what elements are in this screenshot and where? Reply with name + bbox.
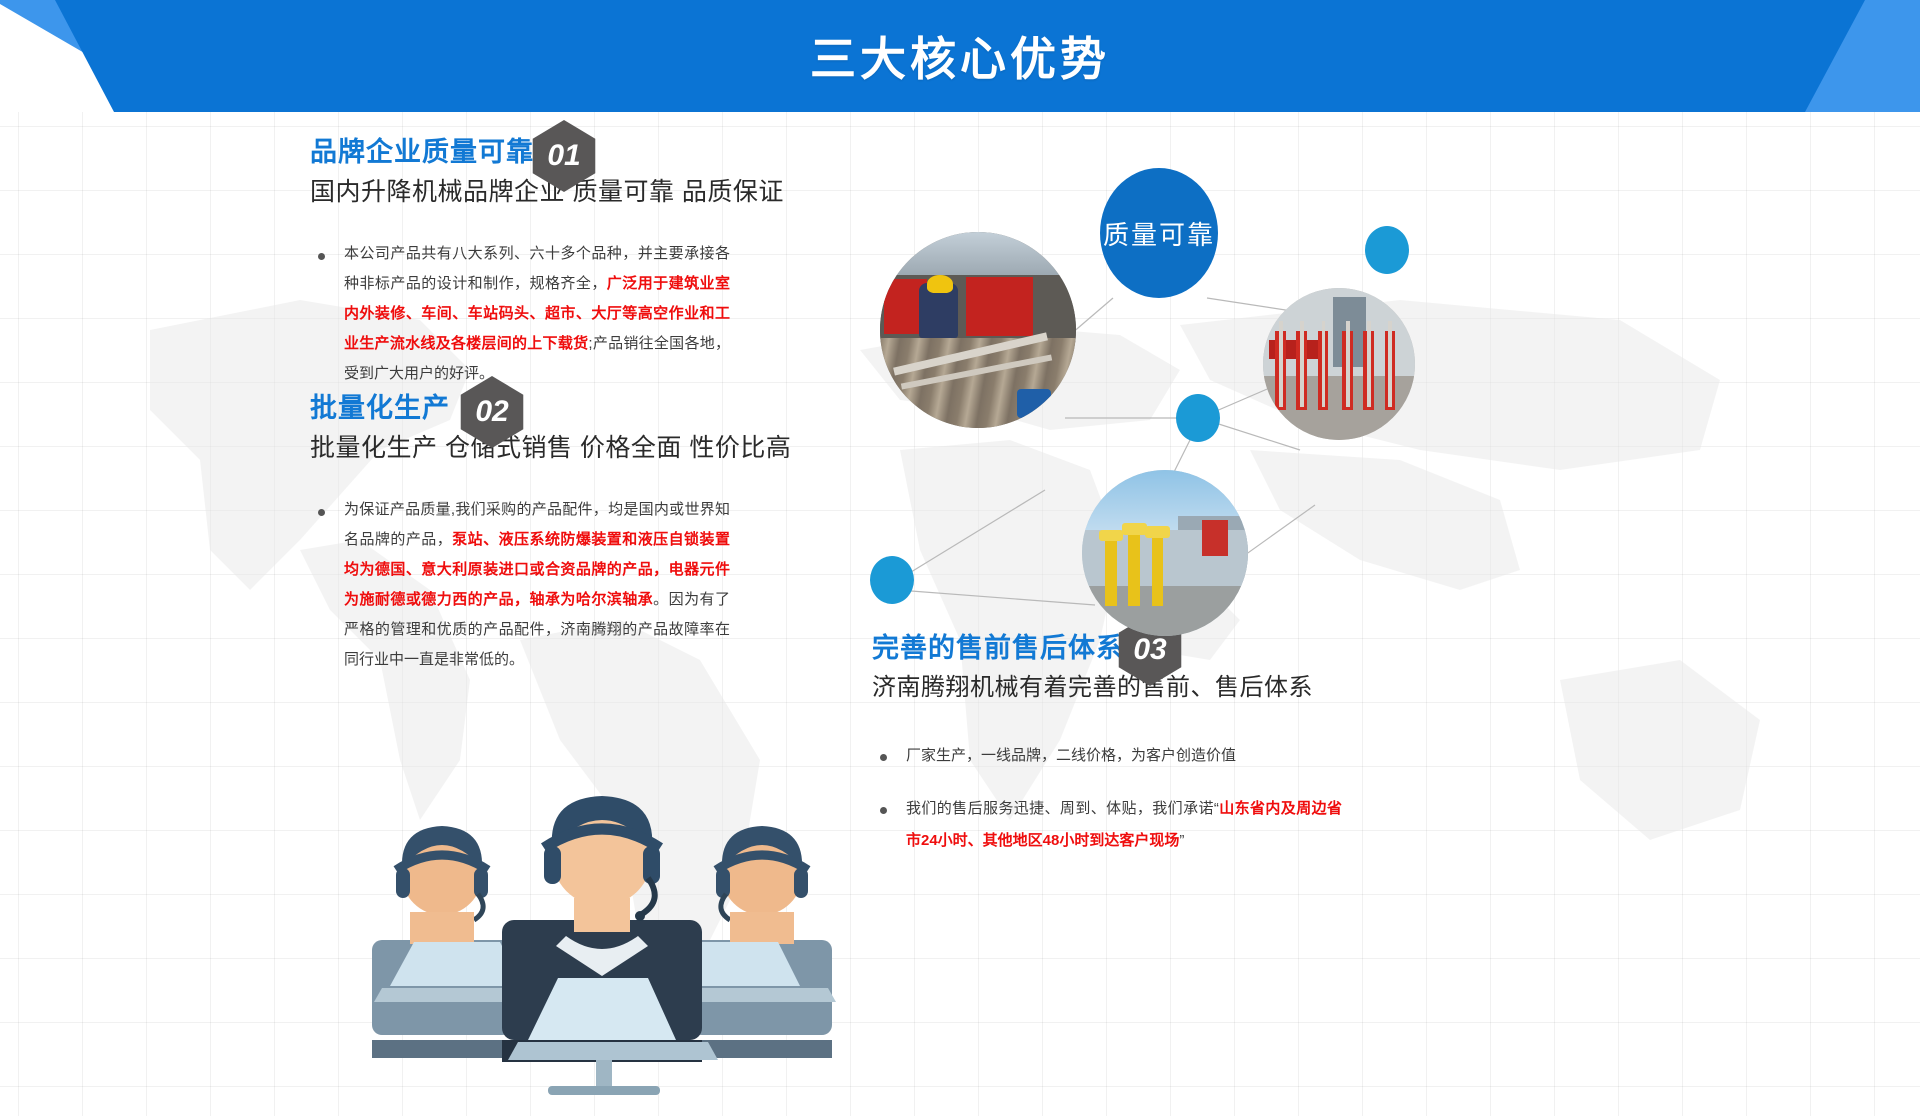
feature-02-head: 02 批量化生产 批量化生产 仓储式销售 价格全面 性价比高 xyxy=(310,392,730,465)
node-dot-lower-left xyxy=(870,556,914,604)
feature-01-bullet-list: 本公司产品共有八大系列、六十多个品种，并主要承接各种非标产品的设计和制作，规格齐… xyxy=(310,239,730,389)
feature-01-subtitle: 国内升降机械品牌企业 质量可靠 品质保证 xyxy=(310,176,730,209)
node-dot-center xyxy=(1176,394,1220,442)
body-text: ” xyxy=(1179,832,1184,849)
page-title: 三大核心优势 xyxy=(0,0,1920,112)
page-header-banner: 三大核心优势 xyxy=(0,0,1920,112)
call-center-illustration xyxy=(352,790,852,1095)
photo-red-lifts xyxy=(1263,288,1415,440)
list-item: 厂家生产，一线品牌，二线价格，为客户创造价值 xyxy=(872,740,1342,772)
network-diagram: 质量可靠 xyxy=(860,150,1560,630)
photo-yellow-lifts xyxy=(1082,470,1248,636)
node-photo-yellow-lifts xyxy=(1082,470,1248,636)
node-dot-upper-right xyxy=(1365,226,1409,274)
list-item: 为保证产品质量,我们采购的产品配件，均是国内或世界知名品牌的产品，泵站、液压系统… xyxy=(310,495,730,675)
node-photo-red-lifts xyxy=(1263,288,1415,440)
feature-02-bullet-list: 为保证产品质量,我们采购的产品配件，均是国内或世界知名品牌的产品，泵站、液压系统… xyxy=(310,495,730,675)
feature-block-03: 03 完善的售前售后体系 济南腾翔机械有着完善的售前、售后体系 厂家生产，一线品… xyxy=(872,632,1342,878)
feature-01-title: 品牌企业质量可靠 xyxy=(310,136,730,168)
photo-factory-worker xyxy=(880,232,1076,428)
feature-03-title: 完善的售前售后体系 xyxy=(872,632,1342,664)
node-photo-factory-worker xyxy=(880,232,1076,428)
feature-03-bullet-list: 厂家生产，一线品牌，二线价格，为客户创造价值 我们的售后服务迅捷、周到、体贴，我… xyxy=(872,740,1342,857)
list-item: 我们的售后服务迅捷、周到、体贴，我们承诺“山东省内及周边省市24小时、其他地区4… xyxy=(872,793,1342,856)
feature-03-head: 03 完善的售前售后体系 济南腾翔机械有着完善的售前、售后体系 xyxy=(872,632,1342,704)
body-text: 厂家生产，一线品牌，二线价格，为客户创造价值 xyxy=(906,747,1236,764)
body-text: 我们的售后服务迅捷、周到、体贴，我们承诺“ xyxy=(906,800,1219,817)
feature-block-02: 02 批量化生产 批量化生产 仓储式销售 价格全面 性价比高 为保证产品质量,我… xyxy=(310,392,730,697)
feature-01-head: 01 品牌企业质量可靠 国内升降机械品牌企业 质量可靠 品质保证 xyxy=(310,136,730,209)
feature-02-subtitle: 批量化生产 仓储式销售 价格全面 性价比高 xyxy=(310,432,730,465)
list-item: 本公司产品共有八大系列、六十多个品种，并主要承接各种非标产品的设计和制作，规格齐… xyxy=(310,239,730,389)
node-quality-label: 质量可靠 xyxy=(1103,215,1215,252)
node-quality-badge: 质量可靠 xyxy=(1100,168,1218,298)
feature-block-01: 01 品牌企业质量可靠 国内升降机械品牌企业 质量可靠 品质保证 本公司产品共有… xyxy=(310,136,730,411)
feature-03-subtitle: 济南腾翔机械有着完善的售前、售后体系 xyxy=(872,672,1342,703)
